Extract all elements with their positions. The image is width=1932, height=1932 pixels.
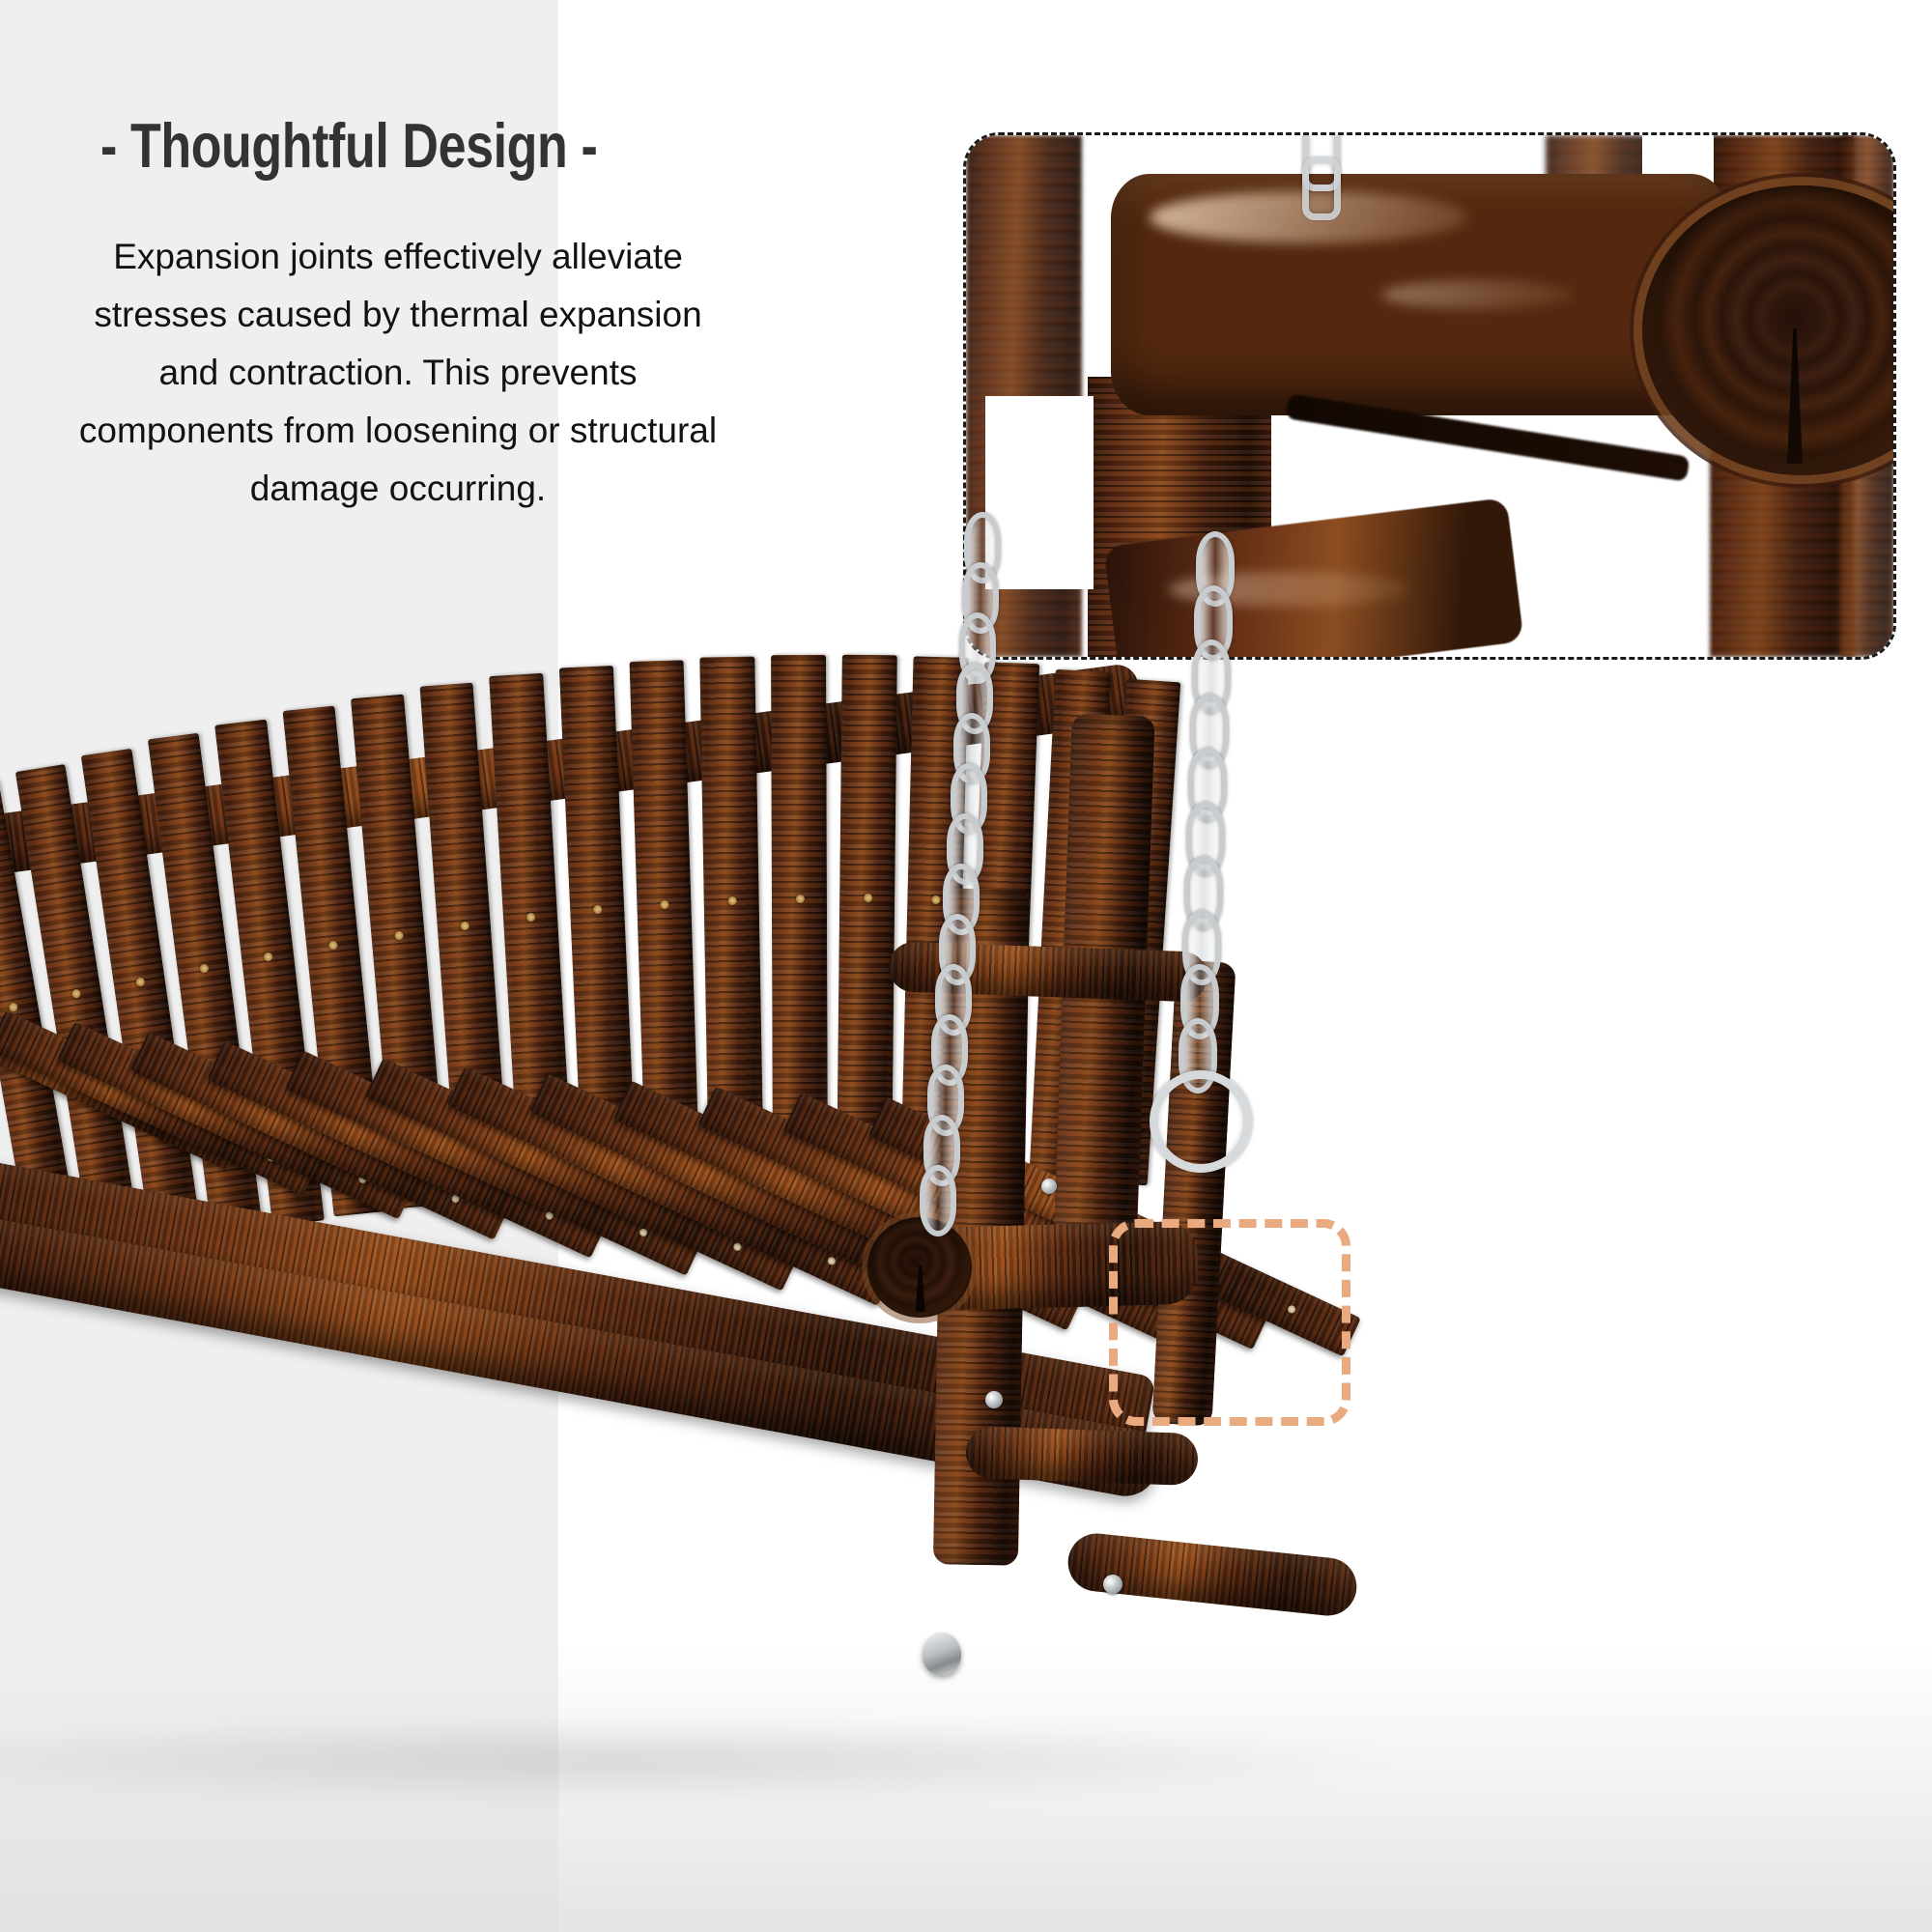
inset-chain-link-2 bbox=[1302, 156, 1341, 220]
screw bbox=[1041, 1179, 1057, 1194]
page-title: - Thoughtful Design - bbox=[100, 114, 611, 177]
inset-log-highlight-2 bbox=[1381, 280, 1575, 309]
background-bottom-fade bbox=[0, 1642, 1932, 1932]
log-cap-crack bbox=[916, 1265, 925, 1312]
chain-link bbox=[920, 1165, 956, 1236]
expansion-joint-callout bbox=[1109, 1219, 1350, 1426]
body-paragraph: Expansion joints effectively alleviate s… bbox=[60, 228, 736, 518]
marketing-image-canvas: - Thoughtful Design - Expansion joints e… bbox=[0, 0, 1932, 1932]
screw bbox=[985, 1391, 1003, 1408]
inset-photo-content bbox=[966, 135, 1893, 657]
back-slat bbox=[837, 655, 897, 1176]
o-ring bbox=[1150, 1070, 1252, 1173]
lower-cross-brace bbox=[965, 1426, 1199, 1486]
inset-gap-window-left bbox=[985, 396, 1094, 589]
log-end-cap bbox=[867, 1217, 972, 1318]
inset-closeup-photo bbox=[966, 135, 1893, 657]
screw bbox=[1103, 1575, 1122, 1594]
